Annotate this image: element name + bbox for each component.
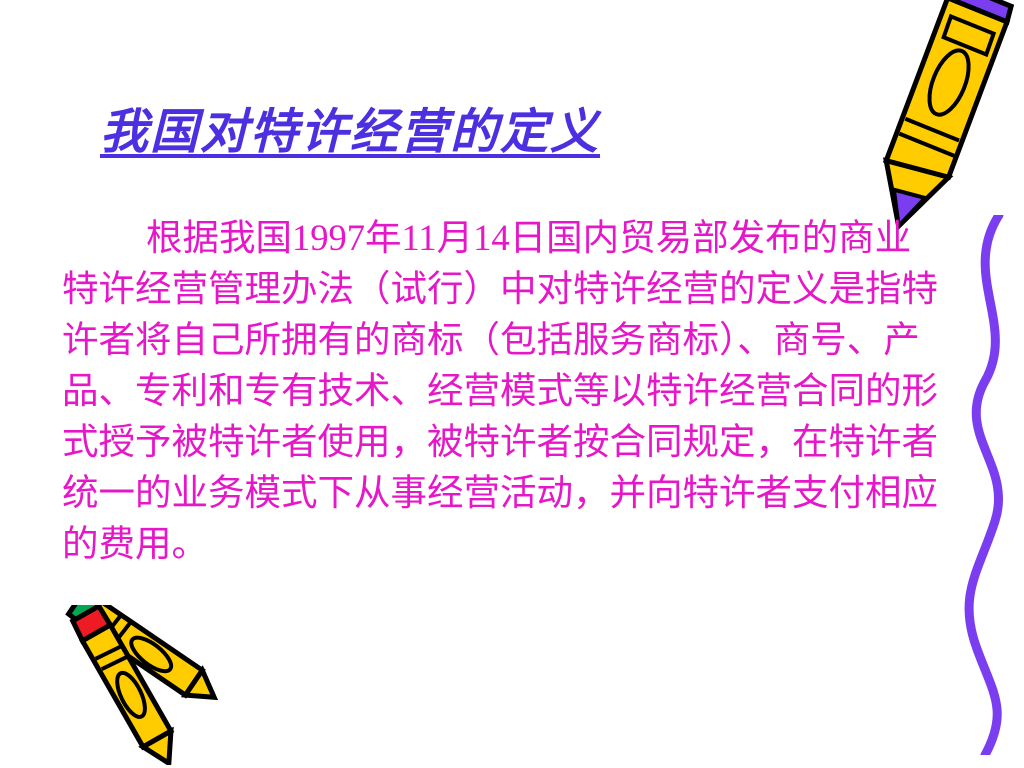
purple-squiggle-decoration [955, 215, 1024, 755]
crayon-top-right-icon [845, 0, 1024, 240]
body-paragraph: 根据我国1997年11月14日国内贸易部发布的商业特许经营管理办法（试行）中对特… [62, 212, 942, 569]
slide-canvas: 我国对特许经营的定义 根据我国1997年11月14日国内贸易部发布的商业特许经营… [0, 0, 1024, 768]
crayon-bottom-left-icon [30, 605, 250, 765]
page-title: 我国对特许经营的定义 [100, 92, 760, 162]
